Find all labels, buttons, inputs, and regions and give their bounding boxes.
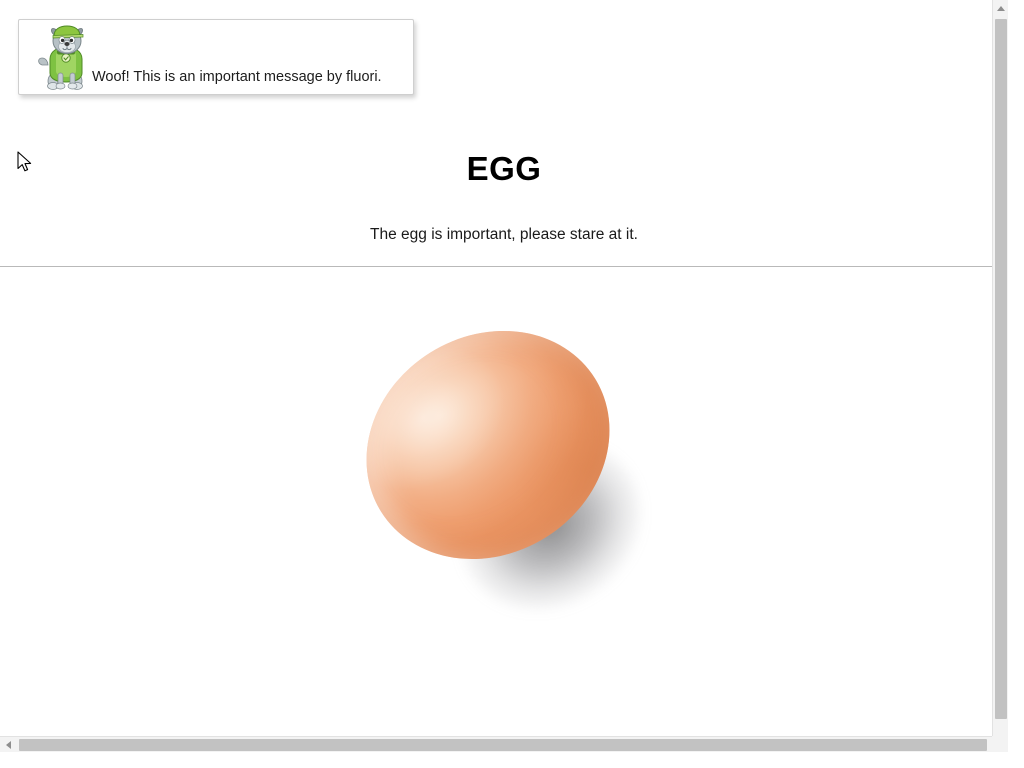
vertical-scrollbar[interactable] [992,0,1008,752]
horizontal-divider [0,266,1008,267]
page-title: EGG [0,150,1008,188]
dog-avatar-icon [36,25,98,91]
browser-viewport: Woof! This is an important message by fl… [0,0,1008,752]
scroll-up-button[interactable] [993,0,1008,16]
scroll-left-button[interactable] [0,737,16,752]
scroll-left-arrow-icon [6,741,11,749]
horizontal-scrollbar[interactable] [0,736,1008,752]
notification-message-box[interactable]: Woof! This is an important message by fl… [18,19,414,95]
page-subtitle: The egg is important, please stare at it… [0,226,1008,244]
scrollbar-corner [992,736,1008,752]
scroll-up-arrow-icon [997,6,1005,11]
notification-message-text: Woof! This is an important message by fl… [92,69,382,85]
horizontal-scrollbar-thumb[interactable] [19,739,987,751]
vertical-scrollbar-thumb[interactable] [995,19,1007,719]
egg-image [340,320,670,620]
